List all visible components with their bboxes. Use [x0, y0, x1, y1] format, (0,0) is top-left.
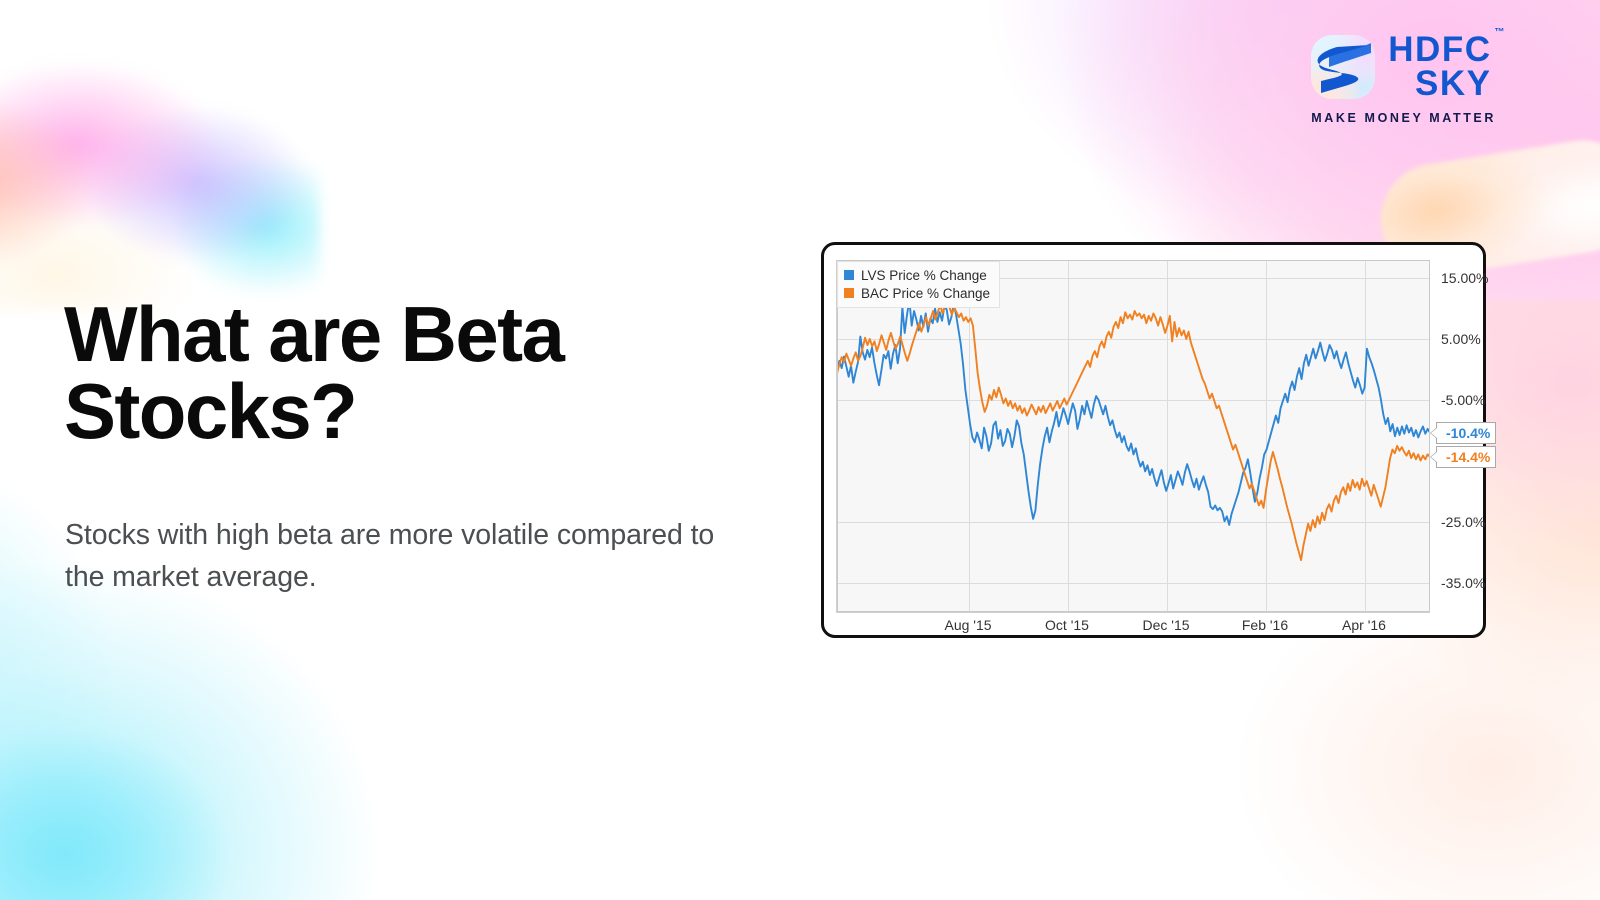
background-blob-top-left [0, 10, 320, 310]
brand-wordmark: HDFC SKY ™ [1388, 33, 1491, 100]
brand-name-line2: SKY [1388, 67, 1491, 101]
series-end-value-callout: -14.4% [1436, 446, 1496, 468]
y-axis-tick-label: 5.00% [1441, 331, 1481, 347]
legend-label: BAC Price % Change [861, 286, 990, 301]
x-axis-tick-label: Dec '15 [1142, 617, 1189, 633]
series-end-value-callout: -10.4% [1436, 422, 1496, 444]
legend-item[interactable]: LVS Price % Change [844, 266, 990, 284]
brand-logo-row: HDFC SKY ™ [1311, 33, 1496, 100]
y-axis-tick-label: -25.0% [1441, 514, 1485, 530]
x-axis-tick-label: Oct '15 [1045, 617, 1089, 633]
brand-name-line1: HDFC [1388, 33, 1491, 67]
y-axis-tick-label: -5.00% [1441, 392, 1485, 408]
y-axis-tick-label: 15.00% [1441, 270, 1488, 286]
legend-item[interactable]: BAC Price % Change [844, 284, 990, 302]
trademark-symbol: ™ [1495, 28, 1505, 38]
hdfc-sky-swoosh-icon [1311, 35, 1375, 99]
chart-container: LVS Price % ChangeBAC Price % Change 15.… [824, 245, 1483, 635]
series-line [837, 299, 1430, 560]
chart-x-axis: Aug '15Oct '15Dec '15Feb '16Apr '16 [836, 617, 1430, 637]
x-axis-tick-label: Feb '16 [1242, 617, 1288, 633]
chart-plot-area [836, 260, 1430, 613]
background-blob-bottom-left-accent [0, 660, 300, 900]
legend-label: LVS Price % Change [861, 268, 987, 283]
brand-logo: HDFC SKY ™ MAKE MONEY MATTER [1311, 33, 1496, 125]
y-axis-tick-label: -35.0% [1441, 575, 1485, 591]
legend-swatch-icon [844, 270, 854, 280]
background-blob-bottom-right [1100, 600, 1600, 900]
page-subtitle: Stocks with high beta are more volatile … [65, 515, 725, 598]
legend-swatch-icon [844, 288, 854, 298]
chart-card: LVS Price % ChangeBAC Price % Change 15.… [821, 242, 1486, 638]
chart-series-lines [837, 260, 1430, 612]
x-axis-tick-label: Apr '16 [1342, 617, 1386, 633]
chart-legend: LVS Price % ChangeBAC Price % Change [837, 261, 1000, 308]
x-axis-tick-label: Aug '15 [944, 617, 991, 633]
page-title: What are Beta Stocks? [64, 296, 764, 450]
brand-tagline: MAKE MONEY MATTER [1311, 111, 1496, 125]
